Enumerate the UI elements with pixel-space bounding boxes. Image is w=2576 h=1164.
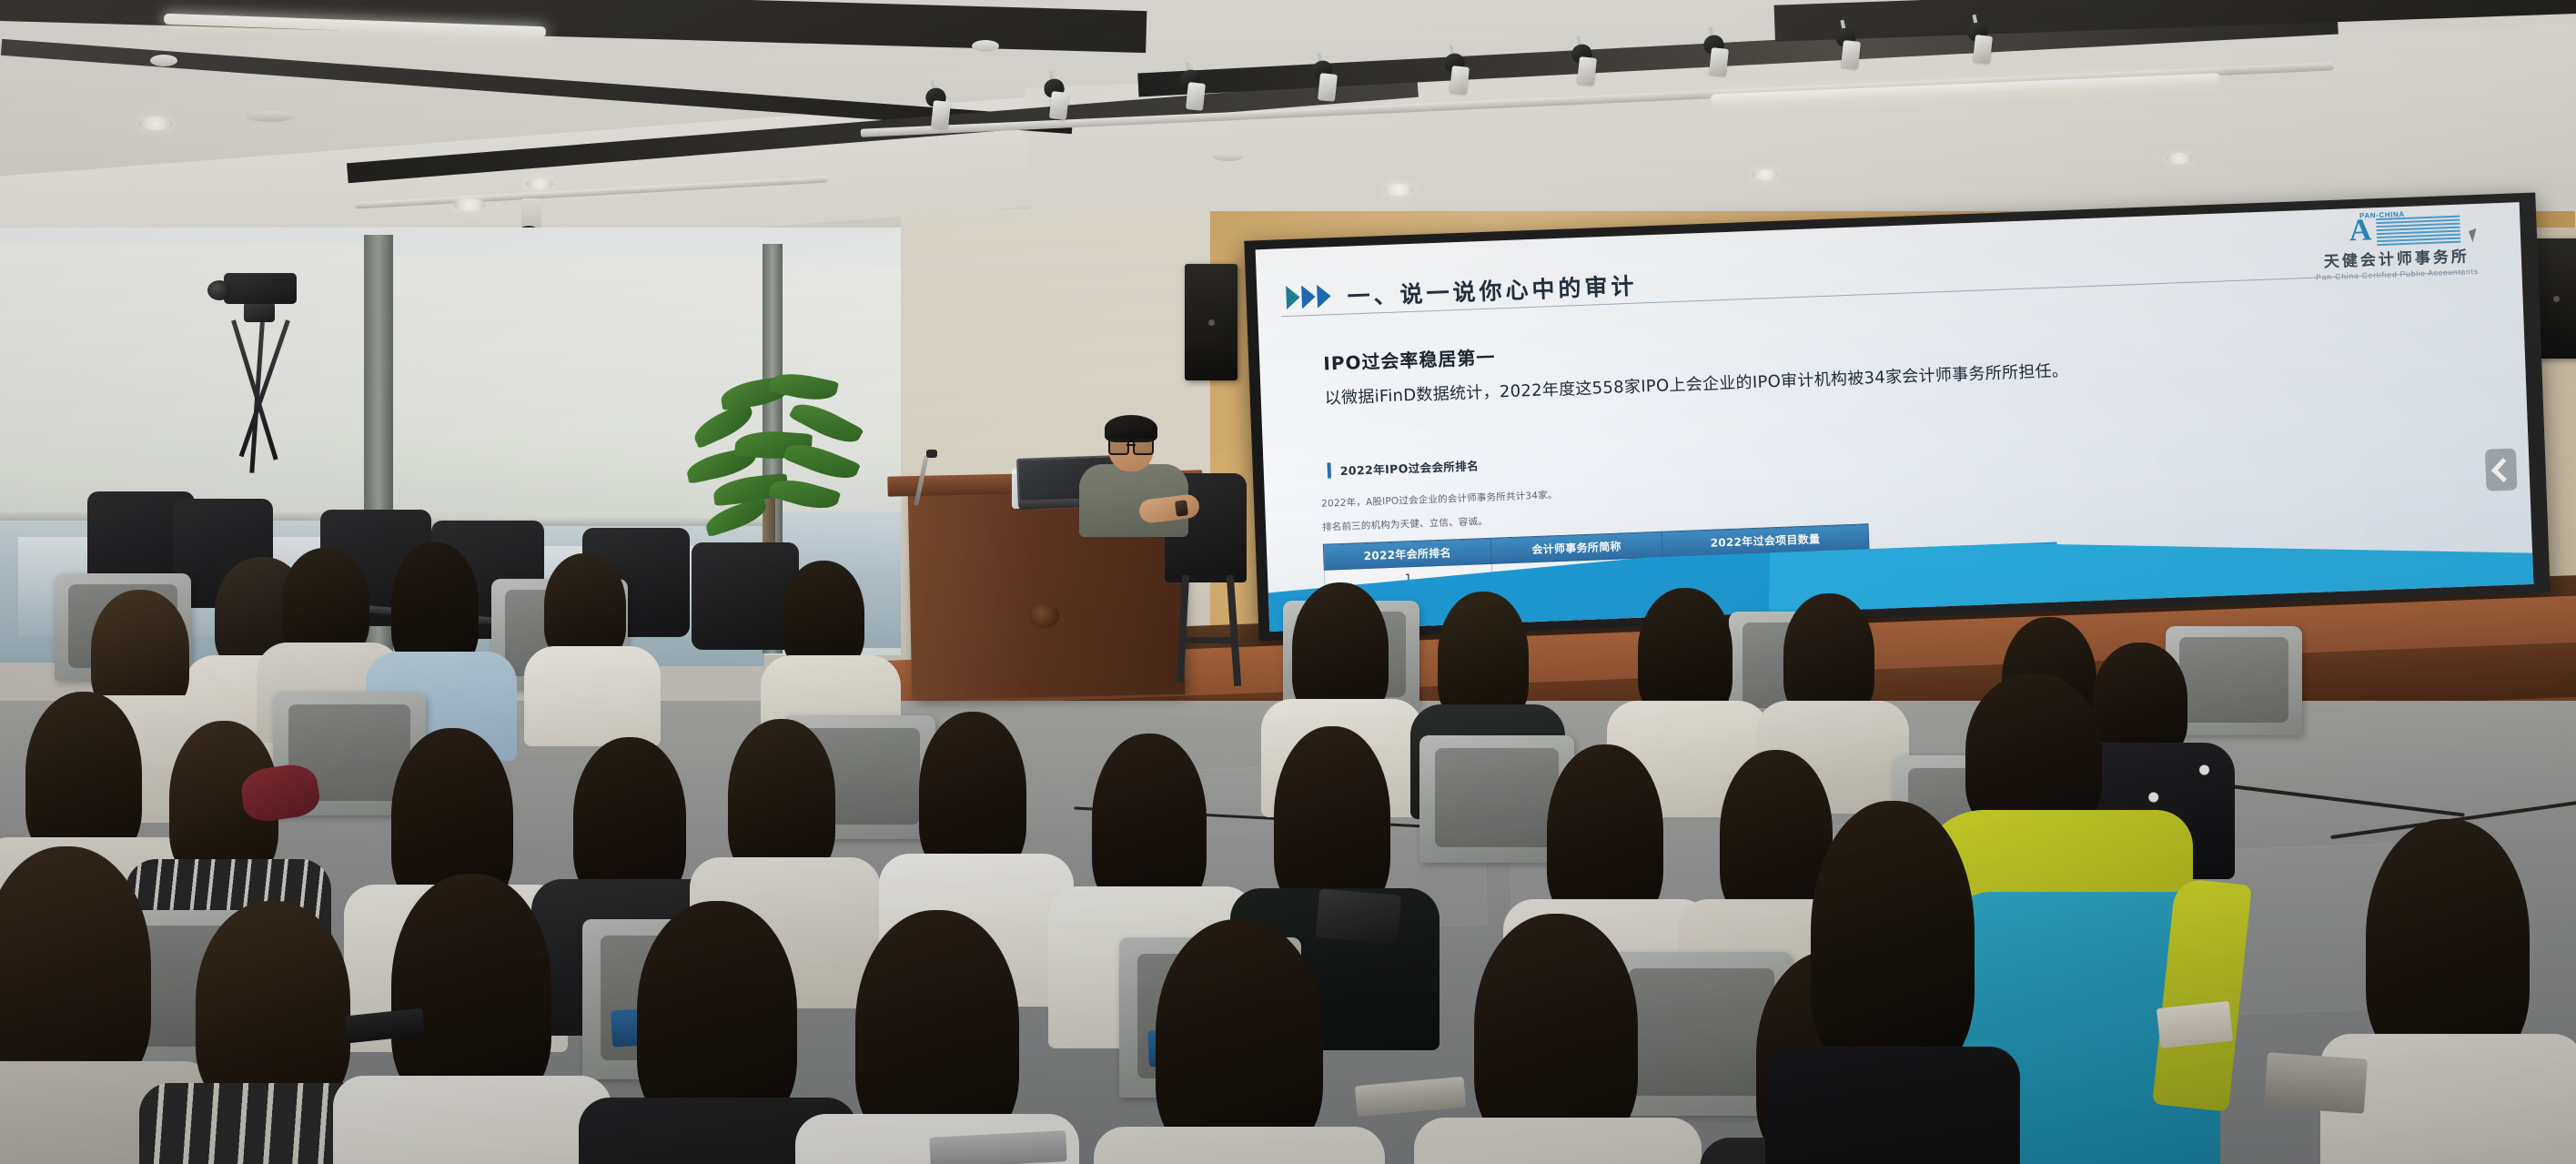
presentation-screen[interactable]: PAN-CHINA A 天健会计师事务所 Pan-China Certified… bbox=[1244, 193, 2551, 642]
recessed-downlight bbox=[526, 178, 553, 189]
slide-content: PAN-CHINA A 天健会计师事务所 Pan-China Certified… bbox=[1256, 202, 2534, 632]
ceiling-vent bbox=[1213, 153, 1244, 161]
smoke-detector bbox=[972, 40, 999, 52]
wristwatch bbox=[1175, 500, 1188, 516]
firm-logo: PAN-CHINA A 天健会计师事务所 Pan-China Certified… bbox=[2290, 208, 2502, 283]
conference-room-photo: PAN-CHINA A 天健会计师事务所 Pan-China Certified… bbox=[0, 0, 2576, 1164]
slide-kicker: 2022年IPO过会会所排名 bbox=[1327, 456, 1479, 479]
recessed-downlight bbox=[138, 116, 173, 130]
potted-plant bbox=[682, 355, 874, 564]
slide-note-2: 排名前三的机构为天健、立信、容诚。 bbox=[1322, 514, 1488, 534]
recessed-downlight bbox=[1383, 184, 1414, 196]
smoke-detector bbox=[150, 55, 177, 66]
triple-chevron-right-icon bbox=[1286, 284, 1331, 309]
recessed-downlight bbox=[453, 198, 486, 211]
recessed-downlight bbox=[1752, 169, 1779, 180]
bar-stool-crossbar bbox=[1183, 637, 1237, 643]
microphone-head bbox=[926, 450, 937, 458]
slide-note-1: 2022年，A股IPO过会企业的会计师事务所共计34家。 bbox=[1321, 488, 1558, 511]
logo-letter: A bbox=[2349, 215, 2372, 247]
presenter bbox=[1074, 419, 1192, 528]
paper-notebook bbox=[2157, 1001, 2233, 1048]
slide-heading: IPO过会率稳居第一 bbox=[1323, 343, 1496, 376]
recessed-downlight bbox=[2166, 153, 2193, 164]
tripod-leg bbox=[239, 319, 290, 457]
chevron-left-icon[interactable] bbox=[2485, 449, 2518, 491]
ceiling-vent bbox=[246, 111, 295, 122]
camera-handle bbox=[273, 278, 297, 288]
kicker-text: 2022年IPO过会会所排名 bbox=[1339, 456, 1479, 479]
slide-section-header: 一、说一说你心中的审计 bbox=[1286, 268, 1638, 314]
logo-mark: PAN-CHINA A bbox=[2327, 210, 2464, 248]
glasses-icon bbox=[1108, 439, 1154, 451]
handbag bbox=[1316, 888, 1401, 945]
camera-lens bbox=[207, 280, 231, 300]
wall-speaker bbox=[1185, 264, 1237, 380]
plant-leaf bbox=[768, 369, 839, 406]
logo-bars-icon bbox=[2376, 216, 2460, 242]
tripod-head bbox=[244, 302, 275, 322]
video-camera-tripod bbox=[211, 273, 320, 455]
notebook-on-seat bbox=[2264, 1052, 2368, 1114]
lectern-cable-grommet bbox=[1028, 604, 1060, 629]
kicker-bar bbox=[1327, 462, 1331, 478]
